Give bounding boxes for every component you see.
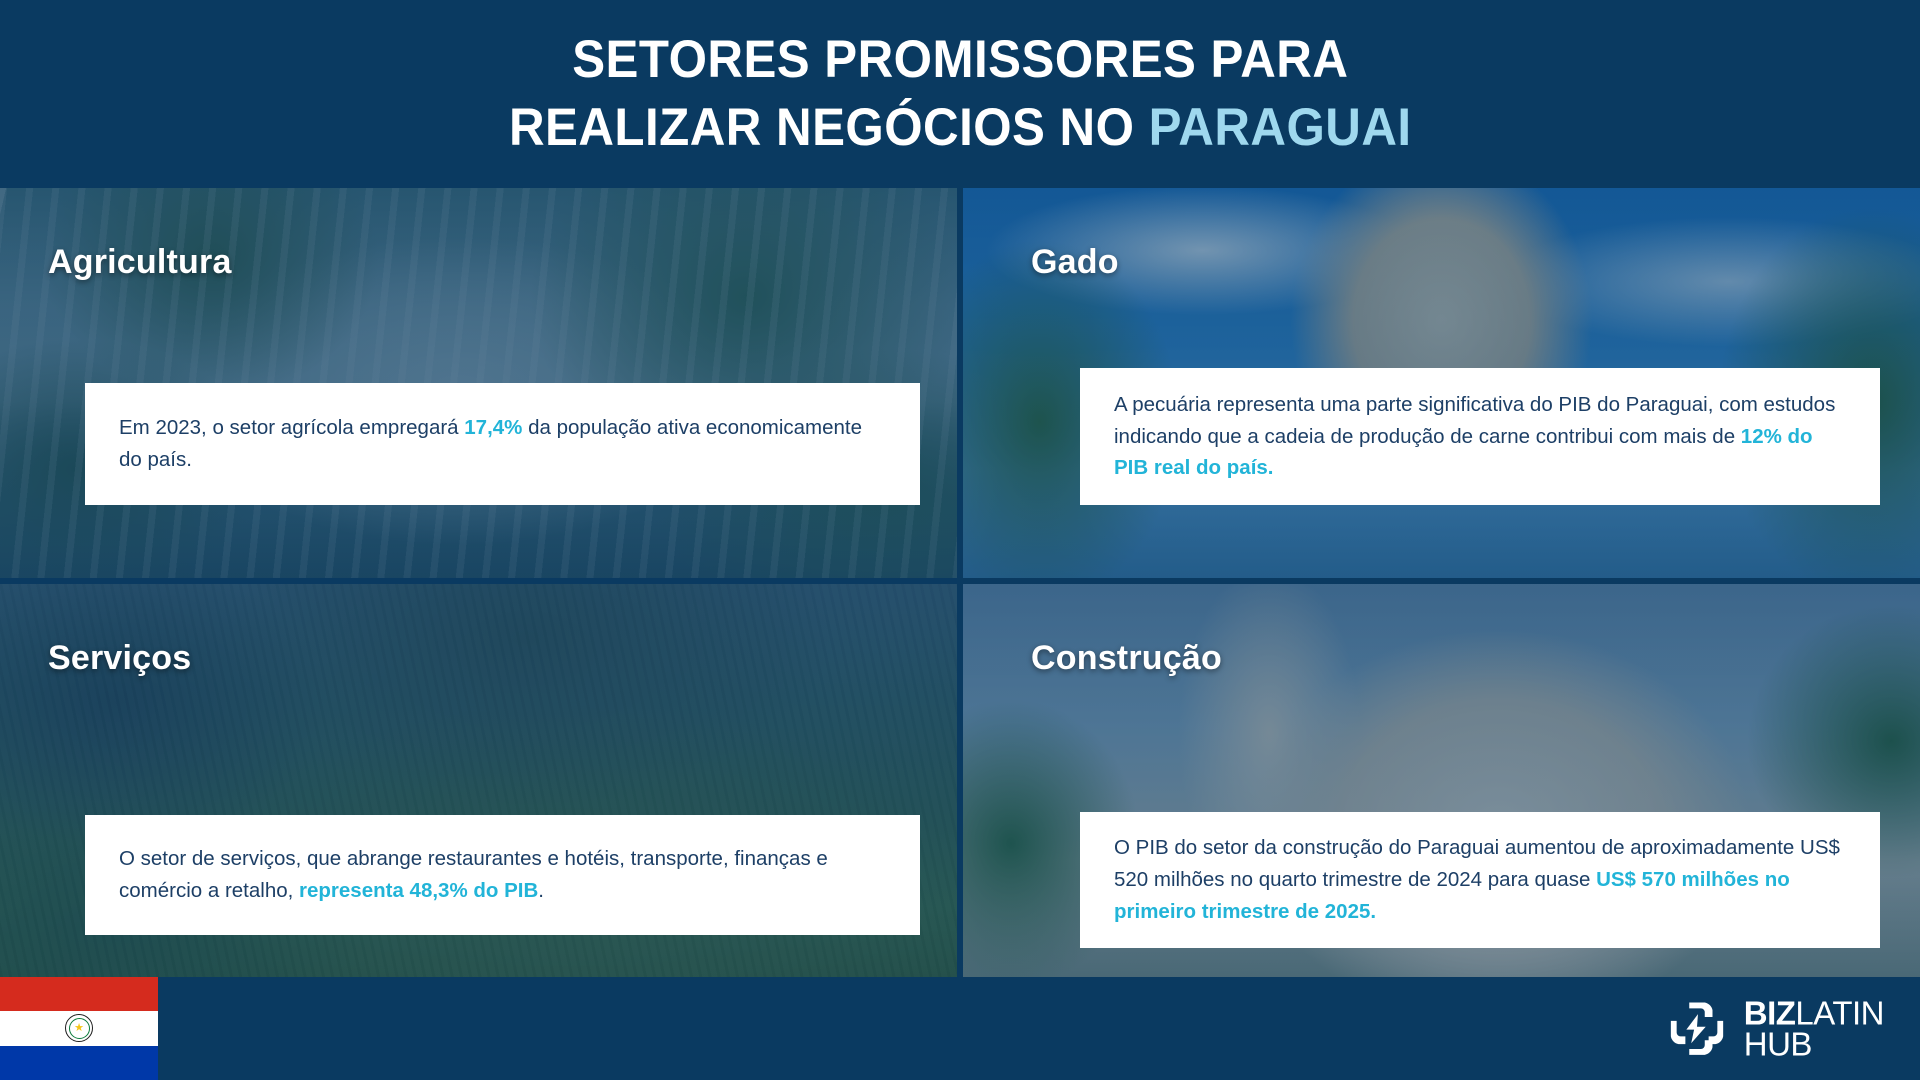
sector-card-gado[interactable]: Gado A pecuária representa uma parte sig… [963, 188, 1920, 578]
bizlatinhub-mark-icon [1666, 998, 1728, 1060]
sector-card-agricultura[interactable]: Agricultura Em 2023, o setor agrícola em… [0, 188, 957, 578]
paraguay-coat-of-arms-icon: ★ [65, 1014, 93, 1042]
flag-stripe-red [0, 977, 158, 1011]
card-title-agricultura: Agricultura [48, 243, 232, 282]
highlight-stat-agricultura: 17,4% [464, 416, 522, 439]
fact-text-gado: A pecuária representa uma parte signific… [1114, 389, 1850, 484]
bizlatinhub-wordmark: BIZLATIN HUB [1744, 997, 1884, 1060]
header-banner: SETORES PROMISSORES PARA REALIZAR NEGÓCI… [0, 0, 1920, 188]
footer-bar: ★ BIZLATIN HUB [0, 977, 1920, 1080]
infographic-slide: SETORES PROMISSORES PARA REALIZAR NEGÓCI… [0, 0, 1920, 1080]
flag-star-icon: ★ [74, 1023, 84, 1034]
page-title-line2-main: REALIZAR NEGÓCIOS NO [509, 98, 1149, 157]
fact-box-construcao: O PIB do setor da construção do Paraguai… [1080, 812, 1880, 948]
page-title-accent: PARAGUAI [1148, 98, 1411, 157]
sector-card-grid: Agricultura Em 2023, o setor agrícola em… [0, 188, 1920, 977]
fact-text-construcao: O PIB do setor da construção do Paraguai… [1114, 832, 1850, 927]
fact-box-gado: A pecuária representa uma parte signific… [1080, 368, 1880, 505]
fact-text-agricultura: Em 2023, o setor agrícola empregará 17,4… [119, 412, 890, 476]
logo-hub-text: HUB [1744, 1029, 1884, 1060]
fact-box-agricultura: Em 2023, o setor agrícola empregará 17,4… [85, 383, 920, 505]
page-title-line2: REALIZAR NEGÓCIOS NO PARAGUAI [509, 94, 1412, 162]
card-title-construcao: Construção [1031, 639, 1222, 678]
bizlatinhub-logo[interactable]: BIZLATIN HUB [1666, 997, 1884, 1060]
flag-stripe-white: ★ [0, 1011, 158, 1045]
highlight-stat-servicos: representa 48,3% do PIB [299, 879, 538, 902]
fact-box-servicos: O setor de serviços, que abrange restaur… [85, 815, 920, 935]
sector-card-construcao[interactable]: Construção O PIB do setor da construção … [963, 584, 1920, 977]
fact-text-servicos: O setor de serviços, que abrange restaur… [119, 843, 890, 907]
paraguay-flag-icon: ★ [0, 977, 158, 1080]
card-title-gado: Gado [1031, 243, 1119, 282]
page-title-line1: SETORES PROMISSORES PARA [572, 26, 1348, 94]
sector-card-servicos[interactable]: Serviços O setor de serviços, que abrang… [0, 584, 957, 977]
flag-stripe-blue [0, 1046, 158, 1080]
card-title-servicos: Serviços [48, 639, 191, 678]
